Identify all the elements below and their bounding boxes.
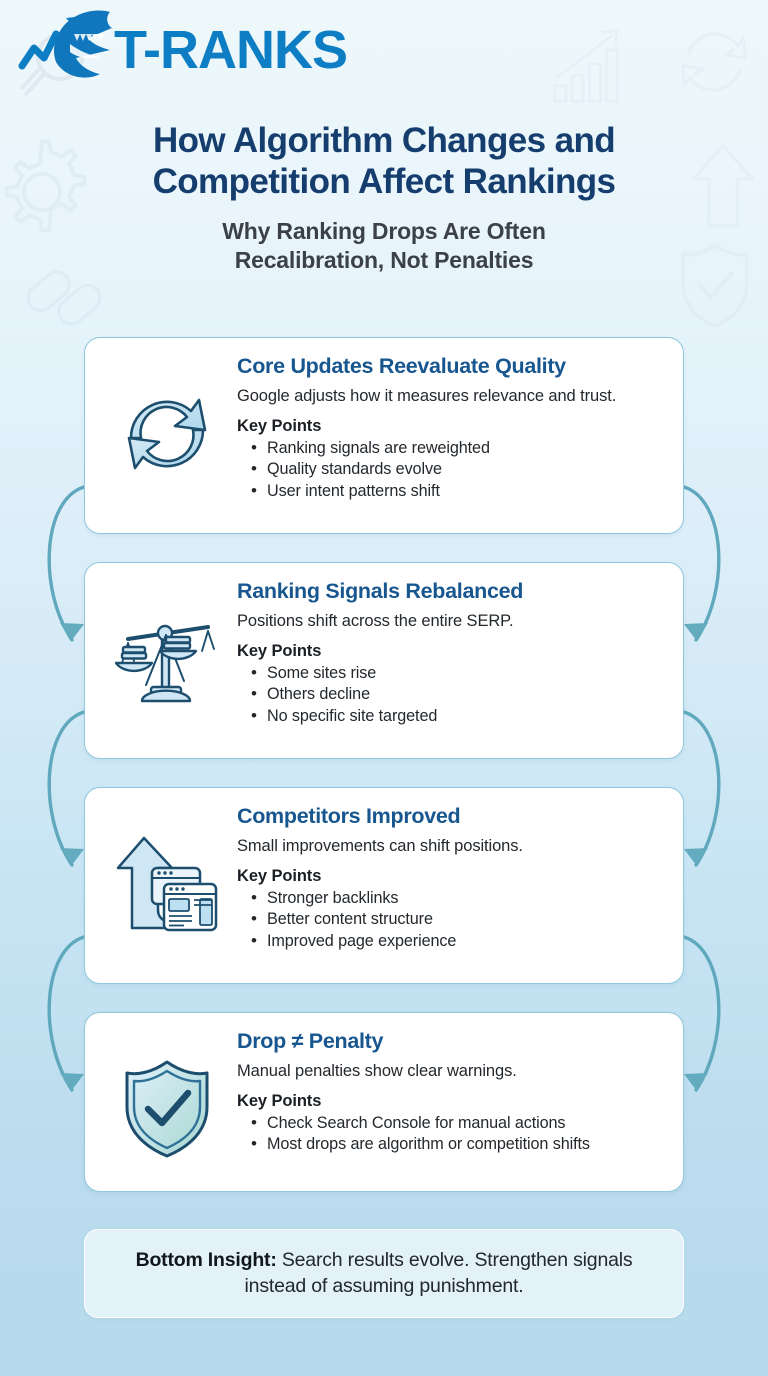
key-points-label: Key Points [237, 642, 663, 661]
connector-right-3 [684, 937, 719, 1090]
bottom-insight-label: Bottom Insight: [136, 1249, 277, 1271]
list-item: Some sites rise [237, 663, 663, 685]
list-item: Stronger backlinks [237, 888, 663, 910]
card-description: Positions shift across the entire SERP. [237, 611, 663, 633]
key-points-list: Check Search Console for manual actions … [237, 1113, 663, 1156]
card-title: Drop ≠ Penalty [237, 1029, 663, 1055]
key-points-list: Ranking signals are reweighted Quality s… [237, 438, 663, 503]
arrowhead-left-3 [60, 1073, 84, 1090]
brand-logo[interactable]: T-RANKS [14, 4, 347, 100]
arrowhead-right-2 [684, 848, 708, 865]
key-points-label: Key Points [237, 867, 663, 886]
key-points-label: Key Points [237, 417, 663, 436]
key-points-label: Key Points [237, 1092, 663, 1111]
growth-arrow-browsers-icon [101, 820, 233, 948]
connector-left-1 [49, 487, 84, 640]
card-title: Core Updates Reevaluate Quality [237, 354, 663, 380]
card-description: Manual penalties show clear warnings. [237, 1061, 663, 1083]
refresh-cycle-icon [101, 370, 233, 498]
connector-right-1 [684, 487, 719, 640]
key-points-list: Stronger backlinks Better content struct… [237, 888, 663, 953]
bottom-insight-body: Search results evolve. Strengthen signal… [245, 1249, 633, 1297]
page-subtitle: Why Ranking Drops Are Often Recalibratio… [36, 217, 732, 277]
list-item: Better content structure [237, 909, 663, 931]
shield-check-icon [101, 1045, 233, 1173]
page-title: How Algorithm Changes and Competition Af… [36, 120, 732, 203]
balance-scale-icon [101, 595, 233, 723]
list-item: Ranking signals are reweighted [237, 438, 663, 460]
list-item: No specific site targeted [237, 706, 663, 728]
header-block: How Algorithm Changes and Competition Af… [0, 120, 768, 276]
bottom-insight-box: Bottom Insight: Search results evolve. S… [84, 1229, 684, 1318]
card-title: Competitors Improved [237, 804, 663, 830]
shark-magnifier-trend-icon [14, 4, 118, 100]
card-description: Google adjusts how it measures relevance… [237, 386, 663, 408]
card-body: Ranking Signals Rebalanced Positions shi… [233, 579, 663, 728]
arrowhead-left-1 [60, 623, 84, 640]
card-competitors[interactable]: Competitors Improved Small improvements … [84, 787, 684, 984]
key-points-list: Some sites rise Others decline No specif… [237, 663, 663, 728]
connector-left-3 [49, 937, 84, 1090]
arrowhead-right-1 [684, 623, 708, 640]
arrowhead-right-3 [684, 1073, 708, 1090]
card-ranking-signals[interactable]: Ranking Signals Rebalanced Positions shi… [84, 562, 684, 759]
card-body: Core Updates Reevaluate Quality Google a… [233, 354, 663, 503]
connector-left-2 [49, 712, 84, 865]
card-body: Drop ≠ Penalty Manual penalties show cle… [233, 1029, 663, 1156]
list-item: Improved page experience [237, 931, 663, 953]
card-core-updates[interactable]: Core Updates Reevaluate Quality Google a… [84, 337, 684, 534]
page-title-line2: Competition Affect Rankings [36, 161, 732, 202]
list-item: Check Search Console for manual actions [237, 1113, 663, 1135]
list-item: Others decline [237, 684, 663, 706]
brand-name: T-RANKS [114, 23, 347, 77]
page-title-line1: How Algorithm Changes and [153, 121, 615, 160]
page-subtitle-line1: Why Ranking Drops Are Often [222, 218, 545, 244]
arrowhead-left-2 [60, 848, 84, 865]
list-item: Quality standards evolve [237, 459, 663, 481]
list-item: Most drops are algorithm or competition … [237, 1134, 663, 1156]
card-title: Ranking Signals Rebalanced [237, 579, 663, 605]
card-description: Small improvements can shift positions. [237, 836, 663, 858]
connector-right-2 [684, 712, 719, 865]
card-body: Competitors Improved Small improvements … [233, 804, 663, 953]
bottom-insight-text: Bottom Insight: Search results evolve. S… [115, 1247, 653, 1300]
page-subtitle-line2: Recalibration, Not Penalties [36, 246, 732, 276]
card-drop-not-penalty[interactable]: Drop ≠ Penalty Manual penalties show cle… [84, 1012, 684, 1192]
list-item: User intent patterns shift [237, 481, 663, 503]
